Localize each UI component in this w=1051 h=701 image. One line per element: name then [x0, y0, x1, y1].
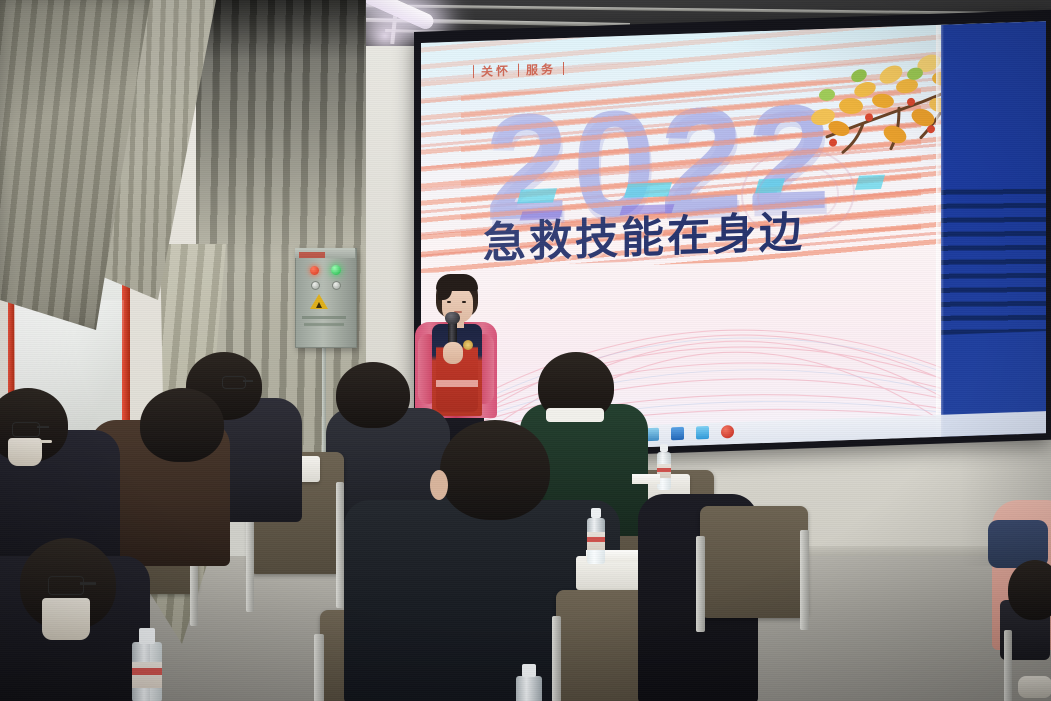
eyeglasses-temple-icon — [80, 582, 96, 585]
panel-text-line — [302, 316, 346, 319]
projector-screen: 2022 — [421, 21, 1046, 455]
audience-member-head — [336, 362, 410, 428]
presenter-hand — [443, 342, 463, 364]
chair-back — [700, 506, 808, 618]
warning-triangle-mark-icon — [316, 302, 322, 308]
photo-scene: 2022 — [0, 0, 1051, 701]
face-mask — [42, 598, 90, 640]
eyeglasses-temple-icon — [243, 380, 253, 382]
eyeglasses-icon — [12, 422, 40, 437]
audience-member-head — [440, 420, 550, 520]
presenter-vest-reflective-strip — [436, 380, 478, 387]
water-bottle[interactable] — [584, 508, 608, 564]
curtain-shadow — [196, 0, 366, 60]
chair-leg — [314, 634, 324, 701]
chair-leg — [336, 482, 344, 608]
presenter-vest-red — [436, 328, 478, 412]
paper-handout[interactable] — [632, 474, 660, 484]
screen-glare — [421, 21, 1046, 455]
presenter-badge — [463, 340, 473, 350]
microphone-head-icon[interactable] — [445, 312, 460, 324]
indicator-light-green-icon — [331, 265, 341, 275]
shirt-collar — [546, 408, 604, 422]
water-bottle[interactable] — [512, 664, 546, 701]
audience-member-head — [1008, 560, 1051, 620]
indicator-light-red-icon — [310, 266, 319, 275]
panel-push-button[interactable] — [311, 281, 320, 290]
water-bottle[interactable] — [128, 628, 166, 701]
eyeglasses-icon — [222, 376, 246, 389]
face-mask — [8, 438, 42, 466]
eyeglasses-icon — [48, 576, 84, 595]
panel-push-button[interactable] — [332, 281, 341, 290]
eyeglasses-temple-icon — [37, 426, 49, 428]
mask-strap — [40, 440, 52, 443]
chair-leg — [696, 536, 705, 632]
shoe — [1018, 676, 1051, 698]
panel-text-line — [304, 323, 344, 326]
chair-leg — [800, 530, 809, 630]
chair-leg — [1004, 630, 1012, 701]
chair-leg — [552, 616, 561, 701]
presenter-eye — [462, 301, 466, 303]
audience-member-ear — [430, 470, 448, 500]
audience-member-head — [140, 388, 224, 462]
presenter-eye — [447, 301, 451, 303]
panel-label — [299, 252, 325, 258]
